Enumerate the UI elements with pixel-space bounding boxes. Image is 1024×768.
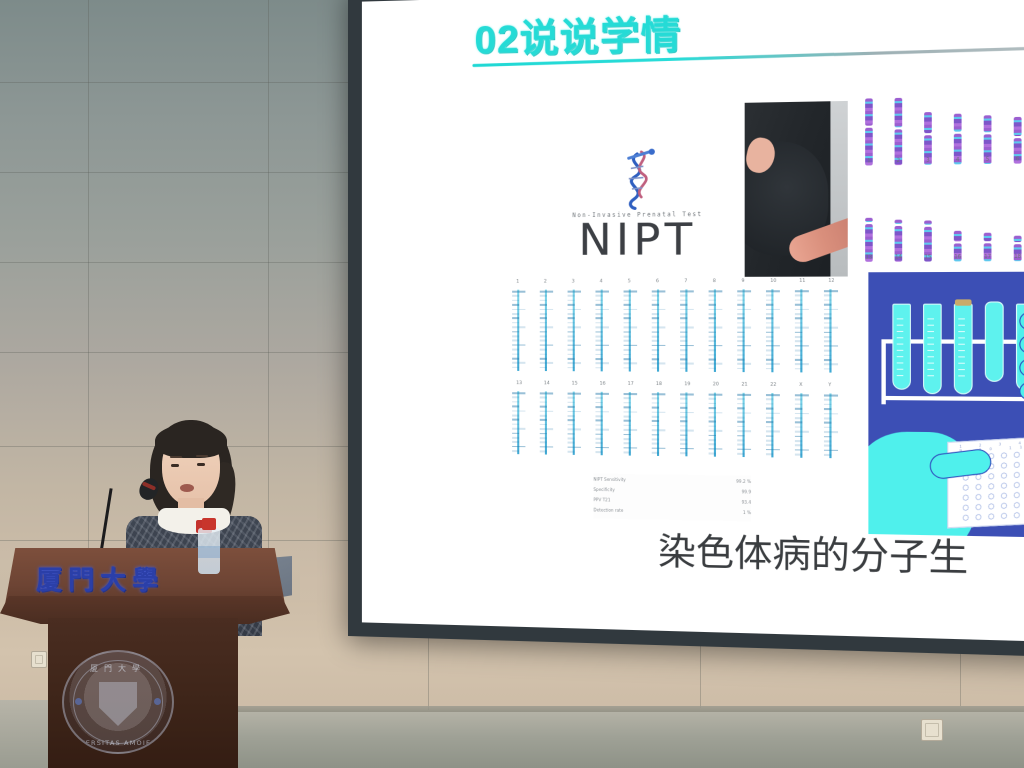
speaker-brow-right [196,455,208,457]
ideogram-label: 6 [656,279,659,284]
ideogram-label: Y [828,383,831,388]
statistics-table: NIPT Sensitivity99.2 %Specificity99.9PPV… [593,474,751,522]
ideogram-column: 2 [539,279,555,375]
ideogram-label: 15 [572,381,578,386]
projection-screen: 02说说学情 Non-Invasive Prenatal Test [362,0,1024,642]
ideogram-label: 8 [713,279,716,284]
emblem-latin-text: UNIVERSITAS AMOIENSIS [64,739,172,747]
ideogram-column: 19 [679,382,696,460]
lecture-hall-scene: 02说说学情 Non-Invasive Prenatal Test [0,0,1024,768]
ideogram-label: 4 [600,279,603,284]
ideogram-column: X [794,383,811,462]
chromosome-label: 3 [926,157,930,163]
ideogram-column: 10 [765,279,782,377]
table-cell: NIPT Sensitivity [593,476,672,482]
ideogram-column: 5 [623,279,640,375]
university-emblem: 厦門大學 UNIVERSITAS AMOIENSIS [62,650,174,754]
table-cell [700,501,732,502]
ideogram-column: 9 [736,279,753,376]
test-tube [892,304,911,390]
ideogram-column: Y [823,383,840,462]
ideogram-label: 3 [572,279,575,284]
chromosome: 5 [984,115,992,164]
ideogram-label: 12 [828,279,834,284]
chromosome: 6 [1014,117,1022,164]
ideogram-column: 22 [765,383,782,462]
ideogram-column: 17 [623,382,640,460]
chromosome: 4 [954,114,962,165]
slide-caption: 染色体病的分子生 [658,522,968,583]
ideogram-column: 7 [679,279,696,376]
ideogram-label: 7 [684,279,687,284]
ideogram-label: 14 [544,381,550,386]
chromosome: 16 [954,231,962,262]
test-tube [923,304,942,395]
chromosome-label: 4 [956,157,960,163]
chromosome: 13 [865,218,873,262]
ideogram-label: 22 [770,383,776,388]
chromosome: 18 [1014,236,1022,261]
chromosome-label: 17 [984,254,991,260]
table-cell: Specificity [593,486,672,492]
lab-illustration: 1 2 3 4 5 6 7 8 9 10 11 12 [868,271,1024,538]
ideogram-label: 20 [713,382,719,387]
chromosome: 3 [924,112,932,165]
ideogram-column: 6 [651,279,668,376]
table-row: Detection rate1 % [593,504,751,517]
ideogram-label: 18 [656,382,662,387]
nipt-logo: Non-Invasive Prenatal Test NIPT [554,147,721,263]
pregnant-woman-photo [745,101,848,277]
speaker-eye-right [197,463,205,466]
chromosome-label: 18 [1014,254,1021,260]
chromosome: 14 [895,220,903,262]
nipt-helix-icon [554,147,721,213]
ideogram-column: 21 [736,382,753,461]
chromosome-label: 16 [954,254,961,260]
chromosome: 2 [895,98,903,165]
test-tube [985,301,1004,381]
chromosome-label: 6 [1016,156,1020,162]
podium-university-name: 厦門大學 [36,560,206,597]
test-tube [954,304,973,395]
ideogram-column: 13 [511,381,527,458]
microplate: 1 2 3 4 5 6 7 8 9 10 11 12 [947,433,1024,529]
ideogram-column: 8 [708,279,725,376]
chromosome: 15 [924,220,932,261]
projection-screen-frame: 02说说学情 Non-Invasive Prenatal Test [348,0,1024,657]
table-cell: 99.9 [732,488,751,493]
table-cell [700,511,732,512]
ideogram-label: 1 [516,280,519,285]
speaker-eye-left [171,464,179,467]
ideogram-column: 18 [651,382,668,460]
ideogram-label: 10 [770,279,776,284]
ideogram-column: 3 [567,279,584,375]
table-cell: PPV T21 [593,497,672,503]
ideogram-column: 11 [794,279,811,377]
ideogram-column: 4 [594,279,611,375]
wall-outlet-left [31,651,47,668]
ideogram-label: 13 [516,381,522,386]
ideogram-label: X [799,383,802,388]
ideogram-label: 17 [628,382,634,387]
nipt-wordmark: NIPT [554,218,721,263]
ideogram-label: 2 [544,279,547,284]
wall-outlet-right [921,719,943,741]
speaker-brow-left [170,456,182,458]
ideogram-column: 15 [567,381,584,459]
bottle-cap [202,518,216,530]
ideogram-label: 16 [600,382,606,387]
chromosome: 1 [865,98,873,165]
speaker-fringe [155,424,227,458]
ideogram-column: 16 [594,382,611,460]
chromosome-label: 14 [895,254,902,260]
bottle-label [198,546,220,558]
chromosome: 17 [984,233,992,262]
nipt-subtitle: Non-Invasive Prenatal Test [561,211,715,219]
chromosome-label: 5 [986,157,990,163]
ideogram-label: 11 [799,279,805,284]
ideogram-label: 19 [684,382,690,387]
ideogram-column: 20 [708,382,725,461]
ideogram-label: 21 [741,382,747,387]
speaker-mouth [180,484,194,492]
ideogram-label: 9 [741,279,744,284]
ideogram-column: 1 [511,279,527,375]
ideogram-column: 14 [539,381,555,459]
chromosome-label: 2 [897,158,900,164]
chromosome-label: 1 [867,158,870,164]
emblem-chinese-text: 厦門大學 [64,663,172,674]
karyotype-image: 12345678 1314151617181920 [861,92,1024,285]
slide-title: 02说说学情 [474,3,681,64]
table-cell: 93.4 [732,499,751,504]
table-cell: Detection rate [593,507,672,514]
ideogram-column: 12 [823,279,840,377]
chromosome-label: 15 [924,254,931,260]
ideogram-label: 5 [628,279,631,284]
table-cell: 99.2 % [732,478,751,483]
chromosome-ideogram-map: 123456789101112 13141516171819202122XY [511,279,859,467]
table-cell: 1 % [732,509,751,515]
chromosome-label: 13 [865,254,872,260]
